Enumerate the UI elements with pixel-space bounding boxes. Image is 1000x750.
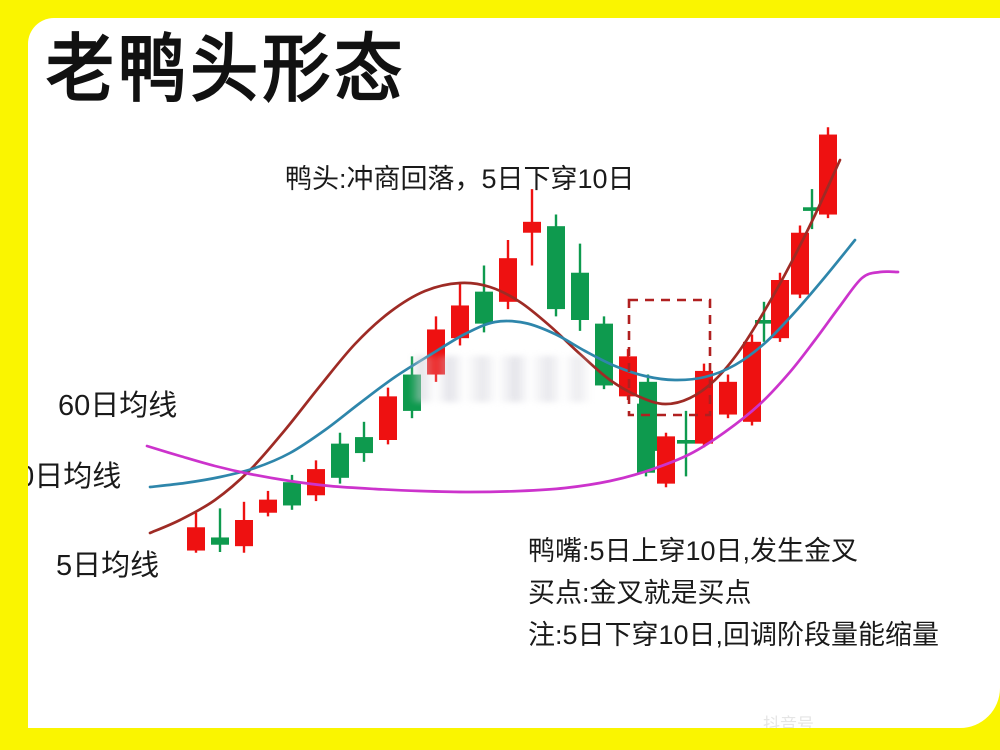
candle-body xyxy=(283,482,301,505)
candle xyxy=(259,491,277,516)
candle-body xyxy=(307,469,325,495)
candle xyxy=(427,316,445,381)
note-line-duck-bill: 鸭嘴:5日上穿10日,发生金叉 xyxy=(528,530,968,572)
candle xyxy=(355,422,373,462)
legend-label-ma5: 5日均线 xyxy=(56,546,159,586)
candle xyxy=(523,189,541,265)
candle xyxy=(235,502,253,553)
candle xyxy=(547,215,565,317)
ma-line xyxy=(150,160,840,533)
candle-body xyxy=(403,375,421,411)
candle xyxy=(331,433,349,484)
candle-body xyxy=(187,527,205,550)
legend-label-ma10: 10日均线 xyxy=(28,457,121,497)
candle-body xyxy=(211,537,229,544)
poster-card: 老鸭头形态 鸭头:冲商回落，5日下穿10日 60日均线 10日均线 5日均线 鸭… xyxy=(28,18,1000,728)
candle xyxy=(657,433,675,488)
candle-body xyxy=(355,437,373,453)
candle-body xyxy=(379,396,397,440)
candle xyxy=(595,316,613,389)
candle-body xyxy=(677,440,695,444)
candle xyxy=(379,388,397,445)
candle-body xyxy=(523,222,541,233)
candle-body xyxy=(547,226,565,309)
candle xyxy=(677,411,695,476)
page-title: 老鸭头形态 xyxy=(46,32,407,106)
candle-body xyxy=(259,500,277,513)
candle xyxy=(307,460,325,501)
candle xyxy=(187,513,205,553)
candle-body xyxy=(235,520,253,546)
note-line-caution: 注:5日下穿10日,回调阶段量能缩量 xyxy=(528,614,968,656)
candle xyxy=(637,396,655,476)
candle-body xyxy=(657,436,675,483)
candle xyxy=(719,375,737,419)
notes-block: 鸭嘴:5日上穿10日,发生金叉 买点:金叉就是买点 注:5日下穿10日,回调阶段… xyxy=(528,530,968,656)
annotation-duck-head: 鸭头:冲商回落，5日下穿10日 xyxy=(285,161,635,198)
moving-average-group xyxy=(147,160,898,533)
candle xyxy=(791,225,809,298)
candle-body xyxy=(475,292,493,324)
candle-body xyxy=(791,233,809,295)
corner-watermark: 抖音号 xyxy=(763,710,973,728)
candle-body xyxy=(571,273,589,320)
note-line-buy-point: 买点:金叉就是买点 xyxy=(528,572,968,614)
poster-frame: 老鸭头形态 鸭头:冲商回落，5日下穿10日 60日均线 10日均线 5日均线 鸭… xyxy=(0,0,1000,750)
legend-label-ma60: 60日均线 xyxy=(58,386,177,426)
candle xyxy=(211,508,229,552)
candle-body xyxy=(331,444,349,478)
candle-body xyxy=(719,382,737,415)
candle xyxy=(571,244,589,331)
